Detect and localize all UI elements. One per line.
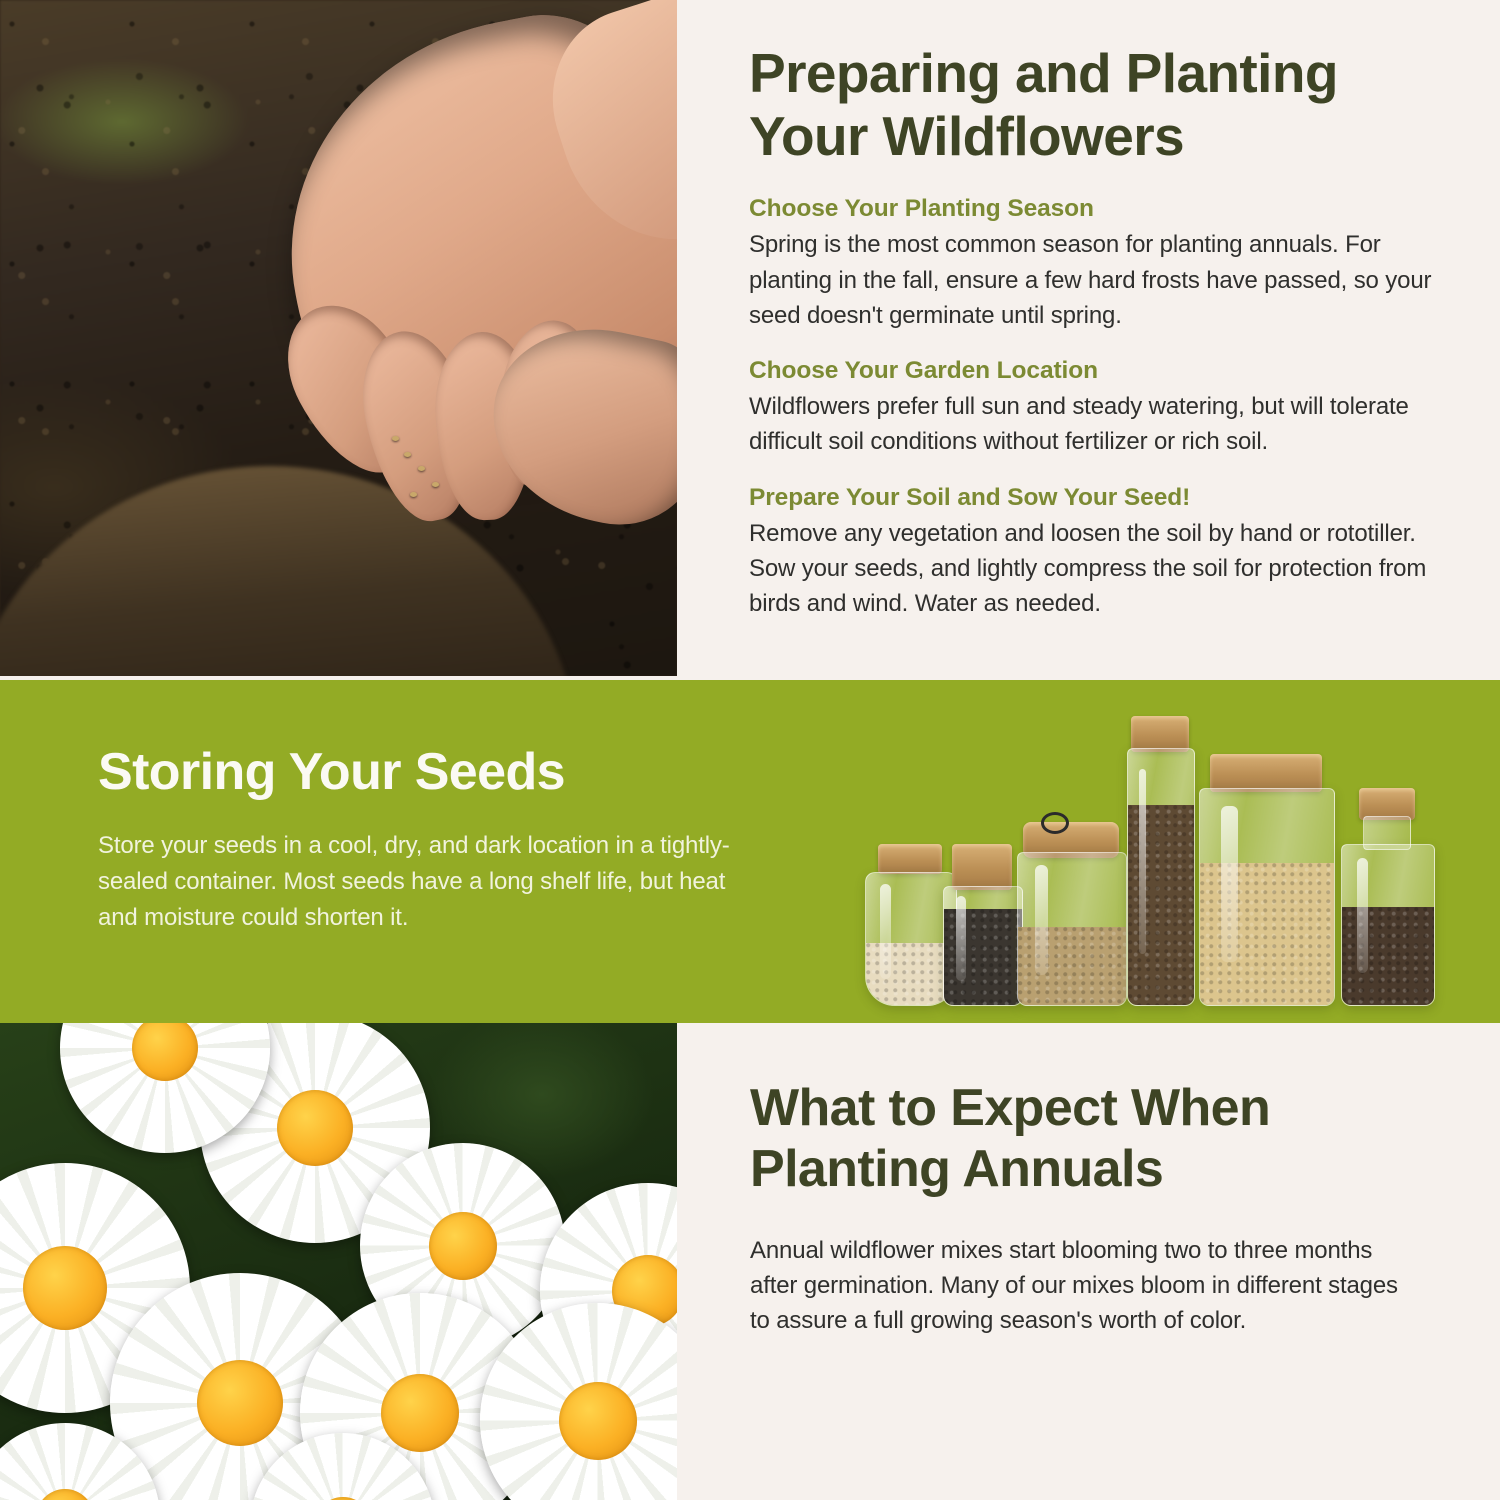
jar-glass [1017,852,1127,1006]
jar-sunflower-seeds [1341,790,1433,1006]
section-preparing-and-planting: Preparing and Planting Your Wildflowers … [0,0,1500,680]
cork-lid [952,844,1012,890]
block-prepare-soil: Prepare Your Soil and Sow Your Seed! Rem… [749,484,1438,622]
section-storing-your-seeds: Storing Your Seeds Store your seeds in a… [0,680,1500,1023]
jar-glass [943,886,1023,1006]
jar-brown-seed-tube [1127,718,1193,1006]
what-to-expect-title: What to Expect When Planting Annuals [750,1078,1420,1201]
jar-contents [1342,907,1434,1005]
glass-highlight [1139,769,1147,953]
body-prepare-soil: Remove any vegetation and loosen the soi… [749,516,1438,622]
bottom-text-column: What to Expect When Planting Annuals Ann… [677,1023,1500,1500]
cork-lid [1131,716,1189,752]
bottle-neck [1363,816,1411,850]
seed-jars-photo [855,706,1455,1006]
jar-tan-fine-seed [1017,816,1125,1006]
body-planting-season: Spring is the most common season for pla… [749,227,1438,333]
top-text-column: Preparing and Planting Your Wildflowers … [677,0,1500,676]
seed [392,436,399,441]
seed [432,482,439,487]
body-garden-location: Wildflowers prefer full sun and steady w… [749,389,1438,460]
glass-highlight [1357,858,1368,973]
glass-highlight [1035,865,1048,974]
jar-dark-poppy-seed [943,848,1021,1006]
jar-glass [1199,788,1335,1006]
lid-handle [1041,812,1069,834]
what-to-expect-body: Annual wildflower mixes start blooming t… [750,1233,1420,1339]
shasta-daisies-photo [0,1023,677,1500]
jar-glass [1127,748,1195,1006]
storing-seeds-body: Store your seeds in a cool, dry, and dar… [98,828,748,936]
cork-lid [1210,754,1322,792]
glass-highlight [956,896,965,981]
seed [418,466,425,471]
block-garden-location: Choose Your Garden Location Wildflowers … [749,357,1438,460]
block-planting-season: Choose Your Planting Season Spring is th… [749,195,1438,333]
jar-white-beans [865,846,955,1006]
hands-sowing-seeds-photo [0,0,677,676]
glass-highlight [880,884,891,979]
jar-contents [1018,927,1126,1005]
jar-pumpkin-seeds [1199,756,1333,1006]
glass-highlight [1221,806,1237,962]
seed [410,492,417,497]
green-text-column: Storing Your Seeds Store your seeds in a… [98,742,748,936]
jar-glass [1341,844,1435,1006]
seed [404,452,411,457]
subheading-garden-location: Choose Your Garden Location [749,357,1438,385]
subheading-planting-season: Choose Your Planting Season [749,195,1438,223]
page-title: Preparing and Planting Your Wildflowers [749,42,1438,167]
cork-lid [878,844,942,874]
jar-contents [1200,863,1334,1005]
infographic-page: Preparing and Planting Your Wildflowers … [0,0,1500,1500]
jar-contents [1128,805,1194,1005]
subheading-prepare-soil: Prepare Your Soil and Sow Your Seed! [749,484,1438,512]
storing-seeds-title: Storing Your Seeds [98,742,748,802]
section-what-to-expect: What to Expect When Planting Annuals Ann… [0,1023,1500,1500]
